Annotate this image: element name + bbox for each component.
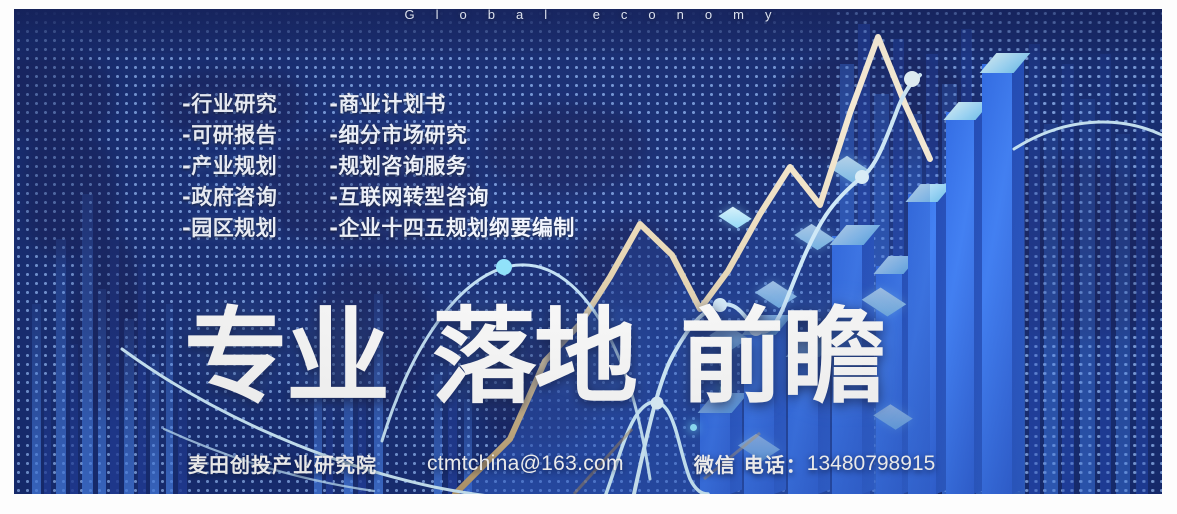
service-item: -政府咨询 bbox=[182, 182, 277, 213]
banner-footer: 麦田创投产业研究院 ctmtchina@163.com 微信 电话： 13480… bbox=[188, 449, 935, 478]
service-item: -互联网转型咨询 bbox=[329, 182, 575, 213]
cyan-arc-top-right bbox=[1014, 122, 1162, 149]
service-item: -细分市场研究 bbox=[329, 120, 575, 151]
line-chart-layer bbox=[14, 9, 1162, 494]
cyan-arc-apex-dot bbox=[496, 259, 512, 275]
service-item: -企业十四五规划纲要编制 bbox=[329, 213, 575, 244]
glow-dot bbox=[690, 424, 697, 431]
marketing-banner: Global economy -行业研究 -可研报告 -产业规划 -政府咨询 -… bbox=[14, 9, 1162, 494]
service-item: -产业规划 bbox=[182, 151, 277, 182]
service-item: -园区规划 bbox=[182, 213, 277, 244]
banner-headline: 专业 落地 前瞻 bbox=[184, 305, 884, 409]
page-canvas: Global economy -行业研究 -可研报告 -产业规划 -政府咨询 -… bbox=[0, 0, 1177, 514]
service-item: -可研报告 bbox=[182, 120, 277, 151]
banner-eyebrow-title: Global economy bbox=[14, 9, 1162, 22]
contact-phone[interactable]: 13480798915 bbox=[807, 452, 935, 476]
service-column-left: -行业研究 -可研报告 -产业规划 -政府咨询 -园区规划 bbox=[182, 89, 277, 244]
contact-label: 微信 电话： bbox=[694, 449, 807, 478]
headline-word-3: 前瞻 bbox=[680, 305, 884, 409]
service-item: -商业计划书 bbox=[329, 89, 575, 120]
service-column-right: -商业计划书 -细分市场研究 -规划咨询服务 -互联网转型咨询 -企业十四五规划… bbox=[329, 89, 575, 244]
headline-word-2: 落地 bbox=[432, 305, 636, 409]
contact-email[interactable]: ctmtchina@163.com bbox=[427, 452, 624, 476]
service-columns: -行业研究 -可研报告 -产业规划 -政府咨询 -园区规划 -商业计划书 -细分… bbox=[182, 89, 575, 244]
service-item: -行业研究 bbox=[182, 89, 277, 120]
cyan-curve-marker bbox=[855, 170, 869, 184]
headline-word-1: 专业 bbox=[184, 305, 388, 409]
cyan-curve-marker bbox=[904, 71, 920, 87]
organization-name: 麦田创投产业研究院 bbox=[188, 449, 377, 478]
service-item: -规划咨询服务 bbox=[329, 151, 575, 182]
